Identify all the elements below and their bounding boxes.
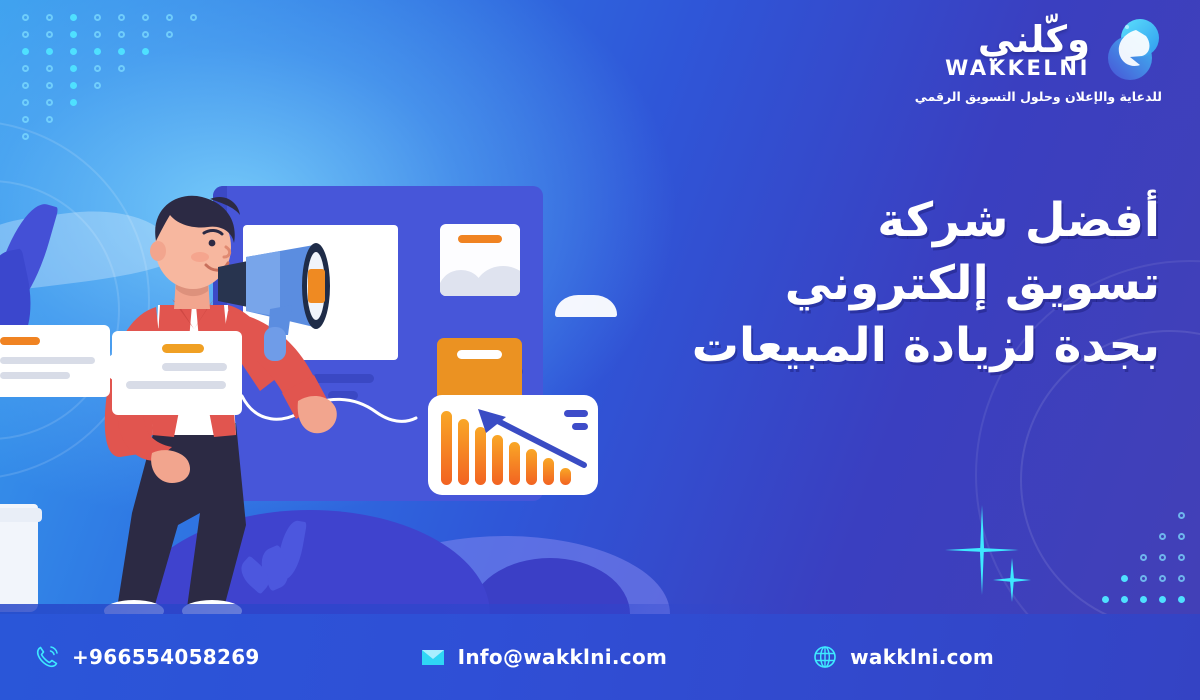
phone-icon [34,644,60,670]
bar-chart-card [428,395,598,495]
dot [1159,554,1166,561]
dot [1178,575,1185,582]
headline-line-2: تسويق إلكتروني [600,253,1160,316]
dot [1102,596,1109,603]
logo-arabic-name: وكّلني [978,21,1090,60]
dot [1178,512,1185,519]
dot [1159,533,1166,540]
hero-illustration [0,0,640,620]
dot [1159,596,1166,603]
contact-bar: +966554058269 Info@wakklni.com wakklni.c… [0,614,1200,700]
logo-wordmark: وكّلني WAKKELNI [945,21,1090,79]
logo-latin-name: WAKKELNI [945,58,1090,79]
speech-card-back [0,325,110,397]
dot [1178,533,1185,540]
email-address: Info@wakklni.com [458,645,667,669]
dot [1140,554,1147,561]
chart-label-pill [564,410,588,417]
chart-bar [458,419,469,485]
dot [1121,575,1128,582]
phone-number: +966554058269 [72,645,260,669]
dot [1159,575,1166,582]
contact-phone[interactable]: +966554058269 [34,644,260,670]
headline-line-1: أفضل شركة [600,190,1160,253]
chart-bar [441,411,452,485]
contact-email[interactable]: Info@wakklni.com [420,644,667,670]
white-image-card [440,224,520,296]
page-title: أفضل شركة تسويق إلكتروني بجدة لزيادة الم… [600,190,1160,378]
brand-logo[interactable]: وكّلني WAKKELNI [915,18,1164,104]
dot [1178,596,1185,603]
footer-edge-accent [0,604,793,614]
dot [1121,596,1128,603]
sparkle-icon [993,558,1031,602]
dot [1140,596,1147,603]
envelope-icon [420,644,446,670]
dot [1140,575,1147,582]
website-url: wakklni.com [850,645,994,669]
contact-website[interactable]: wakklni.com [812,644,994,670]
dot [1178,554,1185,561]
logo-tagline: للدعاية والإعلان وحلول التسويق الرقمي [915,89,1162,104]
chart-label-pill [572,423,588,430]
wakkelni-logo-mark-icon [1100,18,1164,82]
globe-icon [812,644,838,670]
headline-line-3: بجدة لزيادة المبيعات [600,315,1160,378]
marketing-banner: وكّلني WAKKELNI [0,0,1200,700]
speech-card-front [112,331,242,415]
chart-bar [560,468,571,485]
